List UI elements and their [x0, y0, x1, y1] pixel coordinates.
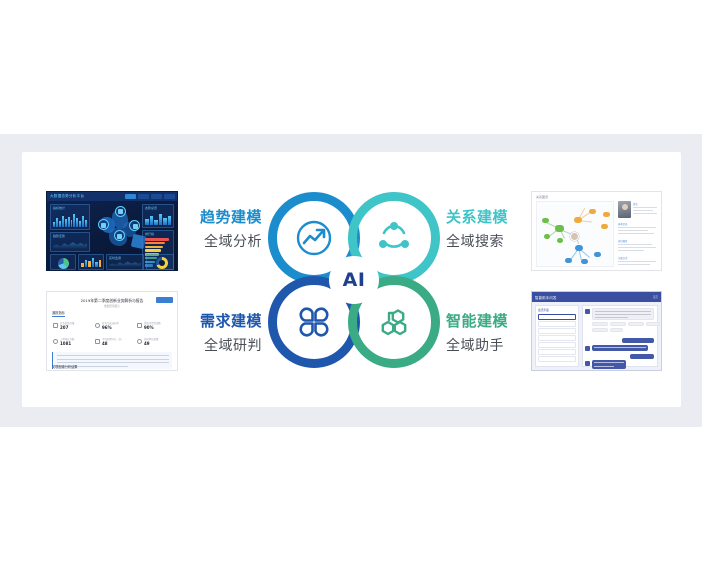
panel-title: 趋势走势 — [53, 234, 65, 238]
kpi-icon — [53, 339, 58, 344]
kpi-card: 业务处理总量 207 — [53, 320, 91, 333]
kpi-icon — [95, 323, 100, 328]
graph-node[interactable] — [555, 225, 564, 232]
label-relation-title: 关系建模 — [446, 208, 556, 227]
kpi-value: 49 — [144, 341, 150, 346]
quick-reply[interactable] — [646, 322, 660, 326]
chat-conversation[interactable] — [582, 305, 658, 367]
kpi-value: 48 — [102, 341, 108, 346]
dashboard-panel-trend: 趋势走势 — [50, 232, 90, 252]
dashboard-title: 大数据态势分析平台 — [50, 194, 84, 199]
profile-panel: 姓名 基本信息 身份属性 关联关系 — [618, 201, 658, 266]
quick-reply[interactable] — [610, 322, 626, 326]
graph-node[interactable] — [601, 224, 608, 229]
ai-badge-label: AI — [343, 269, 366, 291]
profile-section: 基本信息 — [618, 222, 628, 226]
chat-bubble-user — [622, 338, 654, 343]
graph-center-avatar[interactable] — [570, 232, 579, 241]
chat-title: 智能助手问答 — [535, 295, 557, 300]
panel-title: 指标统计 — [53, 206, 65, 210]
map-node — [129, 220, 140, 231]
kpi-icon — [137, 323, 142, 328]
profile-section: 身份属性 — [618, 239, 628, 243]
chat-bubble-bot — [592, 308, 654, 320]
label-intelligent-subtitle: 全域助手 — [446, 337, 556, 356]
chat-bubble-bot-highlight — [592, 345, 648, 351]
bar-chart — [81, 257, 101, 267]
kpi-icon — [95, 339, 100, 344]
chat-bubble-user — [630, 354, 654, 359]
label-demand-subtitle: 全域研判 — [152, 337, 262, 356]
kpi-card: 平均处置时长（分） 48 — [95, 336, 133, 349]
label-demand-title: 需求建模 — [152, 312, 262, 331]
kpi-card: 任务完成达标率 96% — [95, 320, 133, 333]
graph-node[interactable] — [594, 252, 601, 257]
report-section-title: 关联图谱分析结果 — [52, 364, 78, 369]
graph-node[interactable] — [575, 245, 583, 251]
bar-chart — [53, 213, 87, 227]
graph-node[interactable] — [603, 212, 610, 217]
area-chart — [109, 259, 141, 267]
dashboard-tab[interactable] — [138, 194, 149, 199]
panel-title: 实时监测 — [109, 256, 121, 260]
quick-reply[interactable] — [610, 328, 623, 332]
label-relation: 关系建模 全域搜索 — [446, 208, 556, 252]
graph-node[interactable] — [565, 258, 572, 263]
chat-bubble-bot-highlight — [592, 360, 626, 369]
dashboard-panel-bars: 指标统计 — [50, 204, 90, 230]
ai-center-badge: AI — [329, 256, 379, 304]
dashboard-tab[interactable] — [151, 194, 162, 199]
profile-section: 关联关系 — [618, 256, 628, 260]
dashboard-tab[interactable] — [125, 194, 136, 199]
dashboard-panel-minibars — [78, 254, 104, 270]
kpi-card: 工单响应次数 1081 — [53, 336, 91, 349]
graph-node[interactable] — [589, 209, 596, 214]
label-intelligent-title: 智能建模 — [446, 312, 556, 331]
graph-node[interactable] — [574, 217, 582, 223]
graph-node[interactable] — [557, 238, 563, 243]
ai-capability-diagram: AI — [268, 192, 440, 368]
dashboard-tab[interactable] — [164, 194, 175, 199]
dashboard-tabs[interactable] — [125, 194, 175, 199]
chat-header: 智能助手问答 首页 — [532, 292, 661, 302]
profile-photo — [618, 201, 631, 218]
dashboard-panel-pie — [50, 254, 76, 270]
chat-menu[interactable]: 首页 — [653, 295, 658, 299]
dashboard-panel-wave: 实时监测 — [106, 254, 144, 270]
label-trend-title: 趋势建模 — [152, 208, 262, 227]
map-node — [115, 206, 126, 217]
report-section-title: 通报指标 — [52, 310, 65, 315]
label-demand: 需求建模 全域研判 — [152, 312, 262, 356]
kpi-value: 207 — [60, 325, 68, 330]
area-chart — [53, 239, 87, 249]
bot-avatar — [585, 346, 590, 351]
quick-reply[interactable] — [592, 322, 608, 326]
report-subtitle: 数据周期报告 — [47, 304, 177, 308]
graph-node[interactable] — [581, 259, 588, 264]
section-underline — [52, 316, 65, 317]
quick-reply[interactable] — [628, 322, 644, 326]
dashboard-header: 大数据态势分析平台 — [47, 192, 177, 201]
screenshot-canvas: 大数据态势分析平台 指标统计 — [0, 0, 702, 570]
dashboard-map — [94, 203, 143, 251]
kpi-icon — [53, 323, 58, 328]
label-trend-subtitle: 全域分析 — [152, 233, 262, 252]
report-export-button[interactable] — [156, 297, 173, 303]
dashboard-panel-donut — [146, 254, 174, 270]
label-intelligent: 智能建模 全域助手 — [446, 312, 556, 356]
pie-chart — [58, 258, 69, 269]
label-trend: 趋势建模 全域分析 — [152, 208, 262, 252]
quick-reply[interactable] — [592, 328, 608, 332]
relation-header: 关系图谱 — [536, 195, 548, 199]
kpi-icon — [137, 339, 142, 344]
map-node — [114, 230, 125, 241]
label-relation-subtitle: 全域搜索 — [446, 233, 556, 252]
donut-hole — [159, 260, 165, 266]
bot-avatar — [585, 361, 590, 366]
bot-avatar — [585, 309, 590, 314]
kpi-value: 96% — [102, 325, 112, 330]
profile-name: 姓名 — [633, 202, 638, 206]
kpi-value: 1081 — [60, 341, 71, 346]
